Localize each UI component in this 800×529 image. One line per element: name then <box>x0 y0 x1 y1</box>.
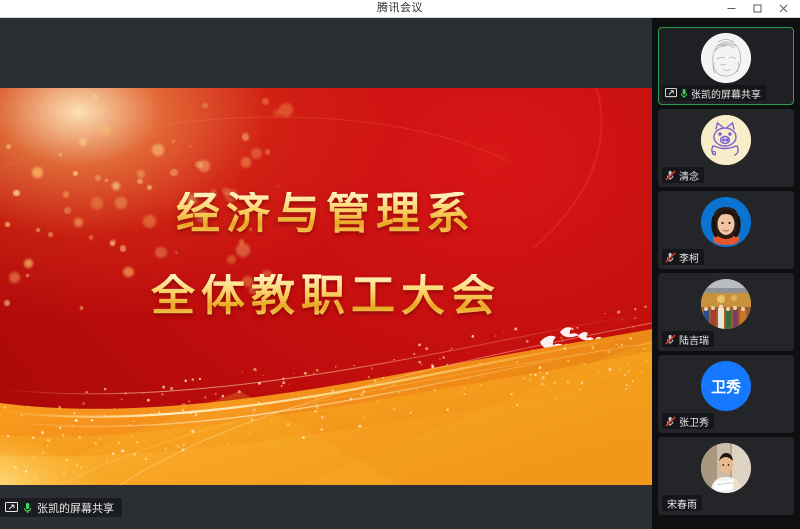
microphone-muted-icon <box>665 252 676 263</box>
bokeh-dot <box>79 138 87 146</box>
avatar <box>701 115 751 165</box>
bokeh-dot <box>273 109 281 117</box>
participant-name-bar: 清念 <box>662 167 704 183</box>
tencent-meeting-window: 腾讯会议 <box>0 0 800 529</box>
bokeh-dot <box>102 109 105 112</box>
bokeh-dot <box>137 170 146 179</box>
window-title: 腾讯会议 <box>0 0 800 17</box>
bokeh-dot <box>73 171 78 176</box>
participant-tile[interactable]: 清念 <box>658 109 794 187</box>
avatar-cartoon-pig <box>701 115 751 165</box>
microphone-on-icon <box>23 502 32 514</box>
bokeh-dot <box>277 185 280 188</box>
screen-share-icon <box>665 88 677 98</box>
bokeh-dot <box>92 94 98 100</box>
slide-title-line-1: 经济与管理系 <box>0 192 652 236</box>
bokeh-dot <box>242 132 249 139</box>
participant-tile[interactable]: 宋春雨 <box>658 437 794 515</box>
bokeh-dot <box>195 161 203 169</box>
bokeh-dot <box>170 169 177 176</box>
participant-tile[interactable]: 卫秀张卫秀 <box>658 355 794 433</box>
bokeh-dot <box>6 144 11 149</box>
bokeh-dot <box>147 185 152 190</box>
bokeh-dot <box>172 140 175 143</box>
participant-name-bar: 陆吉瑞 <box>662 331 714 347</box>
participant-name-bar: 张凯的屏幕共享 <box>662 85 766 101</box>
participant-name-bar: 李柯 <box>662 249 704 265</box>
bokeh-dot <box>32 167 43 178</box>
gold-wave-graphic <box>0 295 652 485</box>
avatar-initials: 卫秀 <box>711 376 741 397</box>
bokeh-dot <box>247 159 249 161</box>
bokeh-dot <box>100 125 111 136</box>
title-bar: 腾讯会议 <box>0 0 800 18</box>
participant-name: 陆吉瑞 <box>679 332 709 347</box>
participant-name: 清念 <box>679 168 699 183</box>
bokeh-dot <box>95 175 101 181</box>
participant-name: 张卫秀 <box>679 414 709 429</box>
participant-name: 宋春雨 <box>667 496 697 511</box>
presentation-slide: 经济与管理系 全体教职工大会 <box>0 88 652 485</box>
avatar-photo-portrait <box>701 197 751 247</box>
avatar <box>701 443 751 493</box>
stage-share-label-text: 张凯的屏幕共享 <box>37 500 114 516</box>
bokeh-dot <box>189 145 192 148</box>
avatar-sketch-illustration <box>701 33 751 83</box>
shared-screen-stage[interactable]: 经济与管理系 全体教职工大会 张凯的屏幕共享 <box>0 18 652 529</box>
close-button[interactable] <box>770 0 796 17</box>
avatar <box>701 279 751 329</box>
bokeh-dot <box>279 103 293 117</box>
avatar <box>701 33 751 83</box>
minimize-button[interactable] <box>718 0 744 17</box>
avatar: 卫秀 <box>701 361 751 411</box>
microphone-muted-icon <box>665 334 676 345</box>
bokeh-dot <box>152 144 164 156</box>
avatar-photo-scene <box>701 279 751 329</box>
bokeh-dot <box>242 134 249 141</box>
microphone-muted-icon <box>665 170 676 181</box>
bokeh-dot <box>198 160 210 172</box>
participant-tile[interactable]: 李柯 <box>658 191 794 269</box>
bokeh-dot <box>202 103 207 108</box>
bokeh-dot <box>59 153 62 156</box>
microphone-on-icon <box>680 88 688 99</box>
microphone-muted-icon <box>665 416 676 427</box>
avatar-photo-person <box>701 443 751 493</box>
participant-name-bar: 宋春雨 <box>662 495 702 511</box>
window-controls <box>718 0 796 17</box>
participant-name: 李柯 <box>679 250 699 265</box>
bokeh-dot <box>137 179 143 185</box>
slide-title: 经济与管理系 全体教职工大会 <box>0 192 652 318</box>
maximize-button[interactable] <box>744 0 770 17</box>
stage-share-label: 张凯的屏幕共享 <box>0 498 122 517</box>
participant-tile[interactable]: 陆吉瑞 <box>658 273 794 351</box>
participant-name: 张凯的屏幕共享 <box>691 86 761 101</box>
participant-name-bar: 张卫秀 <box>662 413 714 429</box>
bokeh-dot <box>105 179 108 182</box>
bokeh-dot <box>262 98 269 105</box>
slide-title-line-2: 全体教职工大会 <box>0 274 652 318</box>
participant-panel[interactable]: 张凯的屏幕共享清念李柯陆吉瑞卫秀张卫秀宋春雨 <box>652 18 800 529</box>
bokeh-dot <box>45 98 48 101</box>
bokeh-dot <box>112 182 120 190</box>
bokeh-dot <box>241 157 252 168</box>
bokeh-dot <box>251 148 262 159</box>
participant-tile[interactable]: 张凯的屏幕共享 <box>658 27 794 105</box>
avatar <box>701 197 751 247</box>
screen-share-icon <box>5 502 18 513</box>
bokeh-dot <box>265 149 271 155</box>
